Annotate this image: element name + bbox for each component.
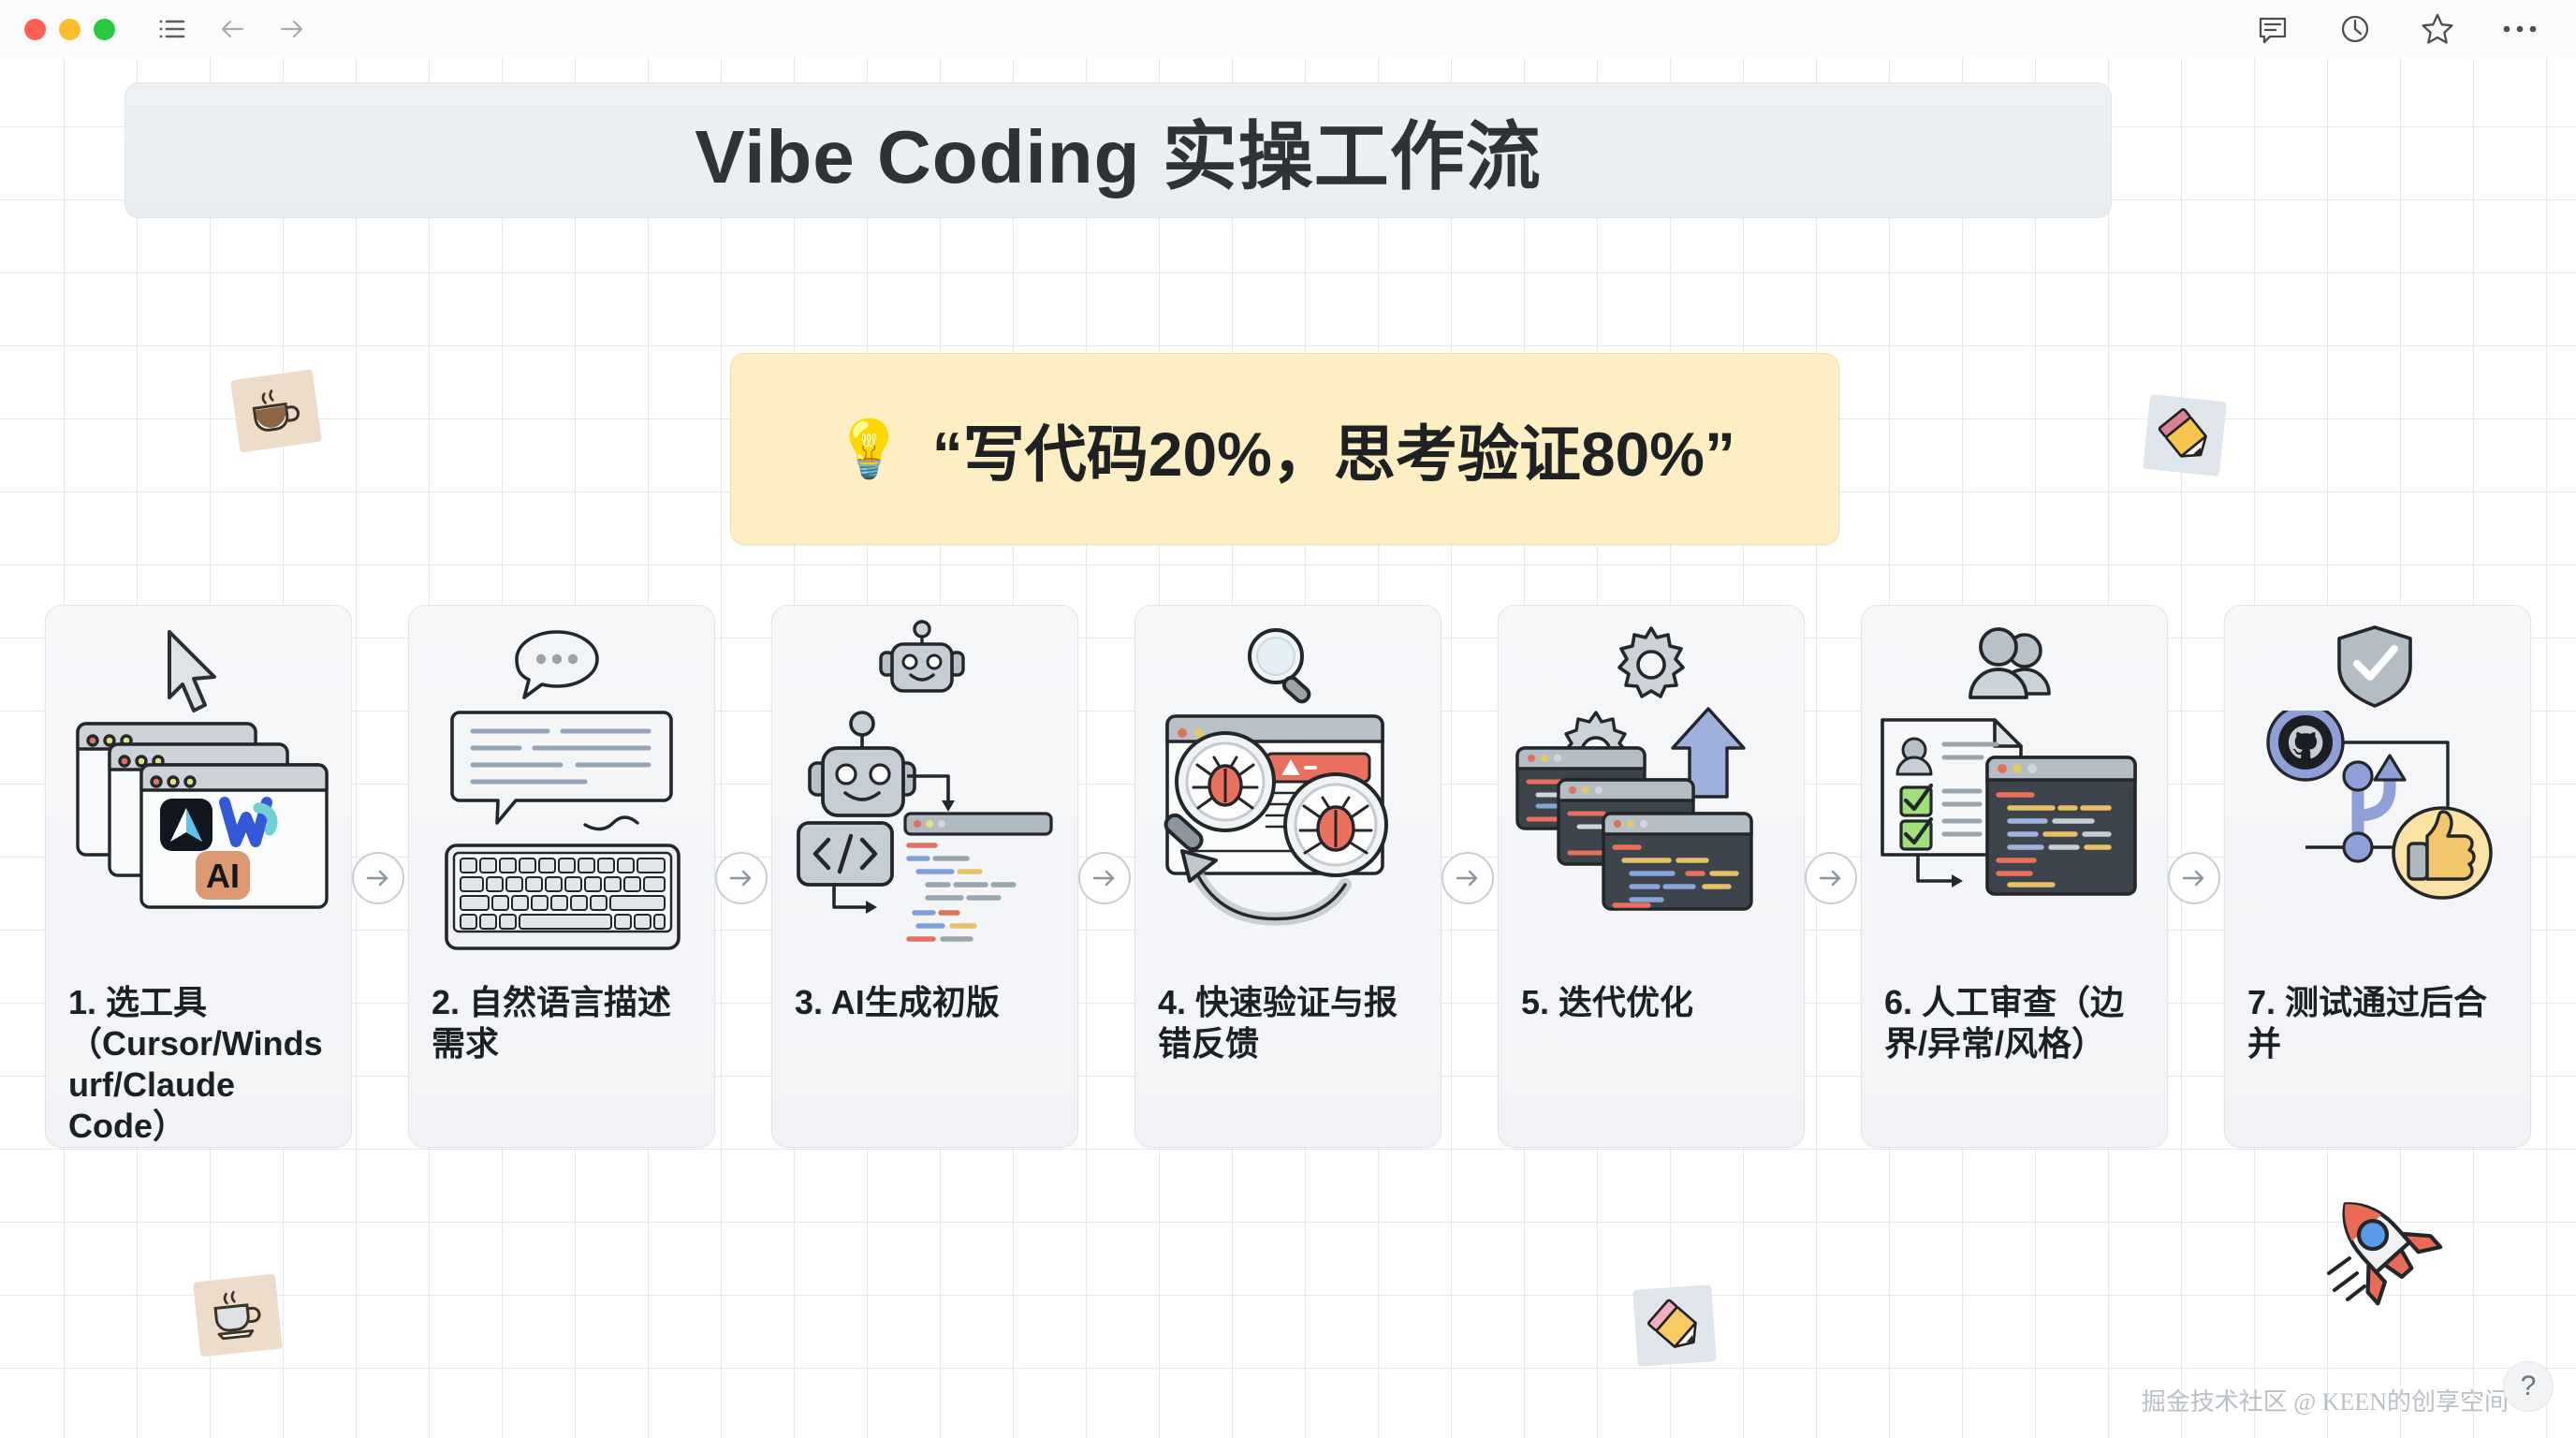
step-5-caption: 5. 迭代优化 <box>1499 982 1804 1023</box>
keyboard-icon <box>443 842 682 952</box>
quote-text: “写代码20%，思考验证80%” <box>932 404 1735 494</box>
watermark-text: 掘金技术社区 @ KEEN的创享空间 <box>2142 1383 2509 1417</box>
connector-arrow-4 <box>1442 852 1494 904</box>
rocket-icon <box>2310 1181 2451 1313</box>
step-6-caption: 6. 人工审查（边界/异常/风格） <box>1862 982 2167 1064</box>
shield-github-merge-thumbsup <box>2249 711 2511 926</box>
step-3-caption: 3. AI生成初版 <box>772 982 1077 1023</box>
reviewers-checklist-code <box>1877 714 2148 920</box>
traffic-lights <box>24 19 115 40</box>
window-titlebar <box>0 0 2576 58</box>
connector-arrow-2 <box>715 852 768 904</box>
whiteboard-canvas[interactable]: Vibe Coding 实操工作流 💡 “写代码20%，思考验证80%” <box>0 58 2576 1438</box>
code-window-icon <box>905 814 1051 939</box>
help-button[interactable]: ? <box>2503 1361 2554 1412</box>
maximize-button[interactable] <box>94 19 115 40</box>
workflow-steps: AI 1. 选工具（Cursor/Windsurf/Claude Code） <box>0 552 2576 1152</box>
connector-arrow-5 <box>1805 852 1857 904</box>
gear-icon <box>1609 623 1693 707</box>
connector-arrow-1 <box>352 852 404 904</box>
svg-text:AI: AI <box>206 857 240 895</box>
step-4-caption: 4. 快速验证与报错反馈 <box>1135 982 1441 1064</box>
coffee-cup-icon-2 <box>205 1287 270 1343</box>
gears-code-windows-up-arrow <box>1514 707 1783 941</box>
coffee-stamp-sticker-2[interactable] <box>193 1274 283 1357</box>
step-4-illustration <box>1135 606 1441 982</box>
robot-head-icon <box>873 619 971 701</box>
step-2-illustration <box>409 606 714 982</box>
nav-icons <box>156 13 308 45</box>
close-button[interactable] <box>24 19 46 40</box>
thumbs-up-icon <box>2393 808 2491 898</box>
back-arrow-icon[interactable] <box>216 13 248 45</box>
people-icon <box>1963 626 2066 705</box>
anthropic-logo: AI <box>196 851 250 900</box>
step-1-illustration: AI <box>46 606 351 982</box>
pencil-icon-2 <box>1646 1297 1704 1355</box>
step-2-caption: 2. 自然语言描述需求 <box>409 982 714 1064</box>
pencil-icon <box>2155 405 2215 465</box>
step-7-caption: 7. 测试通过后合并 <box>2225 982 2530 1064</box>
step-card-5[interactable]: 5. 迭代优化 <box>1498 605 1805 1148</box>
coffee-stamp-sticker[interactable] <box>230 369 322 452</box>
window-stack-icon: AI <box>72 718 334 919</box>
bug-icon-2 <box>1285 774 1386 875</box>
comment-icon[interactable] <box>2254 10 2291 48</box>
step-card-2[interactable]: 2. 自然语言描述需求 <box>408 605 715 1148</box>
more-icon[interactable] <box>2501 10 2539 48</box>
history-icon[interactable] <box>2336 10 2374 48</box>
code-brackets-icon <box>798 823 892 885</box>
cursor-pointer-icon <box>156 624 231 718</box>
step-card-3[interactable]: 3. AI生成初版 <box>771 605 1078 1148</box>
shield-check-icon <box>2334 623 2416 709</box>
step-card-4[interactable]: 4. 快速验证与报错反馈 <box>1134 605 1442 1148</box>
star-icon[interactable] <box>2419 10 2456 48</box>
lightbulb-icon: 💡 <box>834 421 904 477</box>
step-card-7[interactable]: 7. 测试通过后合并 <box>2224 605 2531 1148</box>
page-title: Vibe Coding 实操工作流 <box>695 96 1541 205</box>
step-card-1[interactable]: AI 1. 选工具（Cursor/Windsurf/Claude Code） <box>45 605 352 1148</box>
magnifier-icon <box>1238 623 1328 709</box>
step-6-illustration <box>1862 606 2167 982</box>
coffee-cup-icon <box>244 383 309 439</box>
titlebar-actions <box>2254 10 2539 48</box>
github-icon <box>2268 711 2343 780</box>
step-card-6[interactable]: 6. 人工审查（边界/异常/风格） <box>1861 605 2168 1148</box>
board-title-banner[interactable]: Vibe Coding 实操工作流 <box>124 82 2112 218</box>
pencil-sticker[interactable] <box>2143 394 2227 477</box>
step-1-caption: 1. 选工具（Cursor/Windsurf/Claude Code） <box>46 982 351 1147</box>
code-window-dark-icon <box>1987 757 2135 894</box>
forward-arrow-icon[interactable] <box>276 13 308 45</box>
chat-dots-icon <box>510 626 604 703</box>
connector-arrow-3 <box>1078 852 1131 904</box>
connector-arrow-6 <box>2168 852 2220 904</box>
step-3-illustration <box>772 606 1077 982</box>
minimize-button[interactable] <box>59 19 80 40</box>
robot-generating-code <box>793 709 1055 950</box>
rocket-sticker[interactable] <box>2310 1181 2451 1313</box>
quote-callout[interactable]: 💡 “写代码20%，思考验证80%” <box>730 353 1839 545</box>
step-5-illustration <box>1499 606 1804 982</box>
magnifier-bugs-error <box>1152 711 1422 945</box>
pencil-sticker-2[interactable] <box>1632 1284 1717 1367</box>
cursor-logo <box>160 799 212 851</box>
step-7-illustration <box>2225 606 2530 982</box>
list-icon[interactable] <box>156 13 188 45</box>
code-window-dark-icon-3 <box>1603 814 1751 909</box>
